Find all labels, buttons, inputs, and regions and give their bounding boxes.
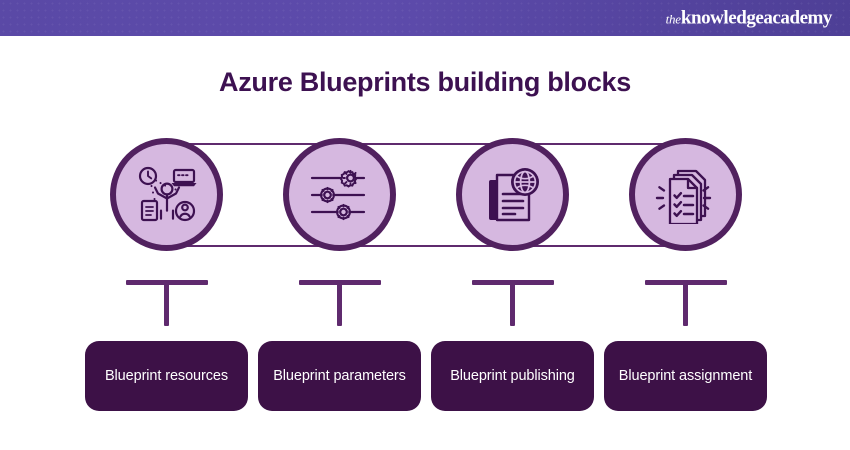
infographic-page: theknowledgeacademy Azure Blueprints bui… [0,0,850,450]
icon-circle-parameters[interactable] [283,138,396,251]
icon-circle-group [0,138,850,254]
checklist-documents-icon [654,166,718,224]
connector-resources [126,270,208,326]
icon-circle-resources[interactable] [110,138,223,251]
label-box-group: Blueprint resources Blueprint parameters… [0,341,850,411]
connector-parameters [299,270,381,326]
label-box-publishing[interactable]: Blueprint publishing [431,341,594,411]
brand-name: knowledgeacademy [681,8,832,29]
icon-circle-publishing[interactable] [456,138,569,251]
label-box-parameters[interactable]: Blueprint parameters [258,341,421,411]
connector-stem [510,280,515,326]
document-globe-icon [483,166,543,224]
brand-logo: theknowledgeacademy [666,9,832,28]
label-box-resources[interactable]: Blueprint resources [85,341,248,411]
people-resources-icon [136,166,198,224]
header-band: theknowledgeacademy [0,0,850,36]
label-box-assignment[interactable]: Blueprint assignment [604,341,767,411]
icon-circle-assignment[interactable] [629,138,742,251]
connector-assignment [645,270,727,326]
sliders-settings-icon [310,169,370,221]
connector-publishing [472,270,554,326]
page-title: Azure Blueprints building blocks [0,68,850,98]
connector-stem [164,280,169,326]
connector-stem [683,280,688,326]
connector-group [0,270,850,330]
connector-stem [337,280,342,326]
brand-prefix: the [666,12,681,27]
